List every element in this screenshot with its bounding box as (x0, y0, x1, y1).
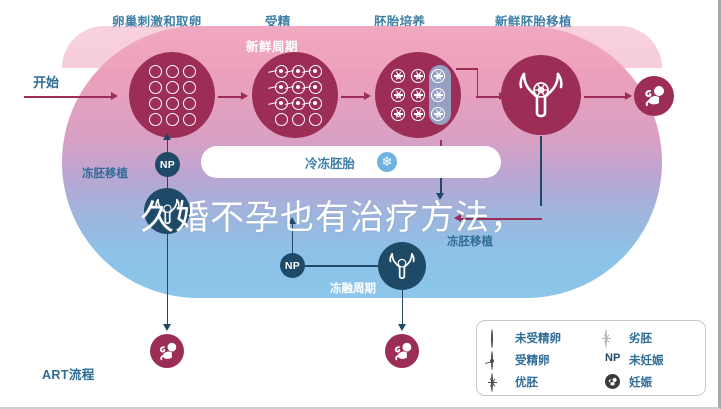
good-embryo-icon (431, 69, 445, 83)
unfertilized-ovum-icon (292, 113, 305, 126)
fertilized-ovum-icon (309, 81, 322, 94)
node-thaw-uterus[interactable] (378, 242, 426, 290)
legend-label: 未妊娠 (629, 352, 664, 368)
pregnancy-baby-icon[interactable] (634, 76, 674, 116)
legend-label: 妊娠 (629, 374, 652, 390)
fertilized-ovum-icon (491, 352, 506, 367)
np-marker-upper[interactable]: NP (155, 152, 180, 177)
connector-fertilization-to-culture (341, 96, 365, 98)
good-embryo-icon (431, 88, 445, 102)
start-arrow-head (111, 92, 118, 100)
legend-item: 劣胚 (605, 328, 705, 347)
connector-thaw-uterus-to-baby (402, 290, 404, 326)
fetus-glyph (391, 341, 414, 362)
unfertilized-ovum-icon (183, 113, 196, 126)
legend-column-right: 劣胚 NP 未妊娠 妊娠 (591, 328, 705, 395)
legend-label: 未受精卵 (515, 330, 561, 346)
connector-culture-to-transfer (476, 96, 500, 98)
art-process-label: ART流程 (42, 364, 95, 383)
unfertilized-ovum-icon (183, 81, 196, 94)
pregnancy-icon (605, 374, 620, 389)
start-label: 开始 (33, 72, 59, 91)
arrow-fertilization-to-culture (364, 92, 371, 100)
arrow-np-upper-up (163, 133, 171, 140)
pregnancy-baby-icon-middle[interactable] (385, 334, 419, 368)
legend-item: 未受精卵 (491, 328, 591, 347)
node-embryo-culture[interactable] (375, 52, 461, 138)
unfertilized-ovum-icon (183, 65, 196, 78)
start-connector-line (24, 96, 112, 98)
good-embryo-icon (411, 88, 425, 102)
legend-label: 优胚 (515, 374, 538, 390)
node-fertilization[interactable] (252, 52, 338, 138)
unfertilized-ovum-icon (166, 65, 179, 78)
node-fresh-embryo-transfer[interactable] (501, 55, 581, 135)
poor-embryo-icon (605, 330, 620, 345)
unfertilized-ovum-icon (275, 113, 288, 126)
fertilization-grid (275, 65, 322, 126)
pregnancy-baby-icon-left[interactable] (150, 334, 184, 368)
fetus-glyph (156, 341, 179, 362)
unfertilized-ovum-icon (491, 330, 506, 345)
connector-np-lower-to-uterus (305, 265, 379, 267)
connector-culture-top-h (456, 68, 478, 70)
unfertilized-ovum-icon (166, 81, 179, 94)
good-embryo-icon (391, 69, 405, 83)
unfertilized-ovum-icon (149, 97, 162, 110)
connector-transfer-down (540, 136, 542, 206)
fertilized-ovum-icon (309, 97, 322, 110)
good-embryo-icon (391, 107, 405, 121)
overlay-headline: 久婚不孕也有治疗方法， (140, 190, 525, 239)
legend-column-left: 未受精卵 受精卵 优胚 (477, 328, 591, 395)
good-embryo-icon (411, 69, 425, 83)
fetus-glyph (641, 84, 667, 108)
diagram-canvas: 卵巢刺激和取卵 受精 胚胎培养 新鲜胚胎移植 新鲜周期 开始 (0, 0, 721, 409)
uterus-icon (388, 251, 416, 281)
connector-left-uterus-to-baby (167, 234, 169, 326)
connector-np-lower-v-mid (292, 240, 294, 254)
arrow-left-uterus-to-baby (163, 324, 171, 331)
good-embryo-icon (491, 374, 506, 389)
node-oocyte-retrieval[interactable] (129, 52, 215, 138)
arrow-transfer-to-baby (625, 92, 632, 100)
legend-item: 优胚 (491, 372, 591, 391)
unfertilized-ovum-icon (183, 97, 196, 110)
legend-item: NP 未妊娠 (605, 350, 705, 369)
np-icon: NP (605, 352, 620, 367)
label-frozen-embryo-transfer-left: 冻胚移植 (82, 165, 128, 181)
unfertilized-ovum-icon (149, 113, 162, 126)
connector-transfer-to-baby (584, 96, 626, 98)
legend-label: 受精卵 (515, 352, 550, 368)
unfertilized-ovum-icon (309, 113, 322, 126)
legend-label: 劣胚 (629, 330, 652, 346)
uterus-icon (517, 69, 565, 121)
connector-oocyte-to-fertilization (218, 96, 242, 98)
np-marker-lower[interactable]: NP (280, 253, 305, 278)
frozen-embryo-bar[interactable]: 冷冻胚胎 ❄ (201, 146, 501, 178)
legend-item: 受精卵 (491, 350, 591, 369)
connector-culture-elbow-v (477, 68, 479, 96)
good-embryo-icon (431, 107, 445, 121)
fetus-glyph (607, 377, 618, 387)
oocyte-grid (149, 65, 196, 126)
unfertilized-ovum-icon (149, 81, 162, 94)
arrow-thaw-uterus-to-baby (398, 324, 406, 331)
embryo-culture-grid (391, 69, 445, 121)
fertilized-ovum-icon (309, 65, 322, 78)
arrow-oocyte-to-fertilization (241, 92, 248, 100)
good-embryo-icon (391, 88, 405, 102)
legend-box: 未受精卵 受精卵 优胚 劣胚 NP 未妊娠 (476, 320, 706, 396)
good-embryo-icon (411, 107, 425, 121)
unfertilized-ovum-icon (149, 65, 162, 78)
snowflake-icon: ❄ (377, 152, 397, 172)
connector-np-upper-v-top (167, 138, 169, 152)
unfertilized-ovum-icon (166, 113, 179, 126)
label-thaw-cycle: 冻融周期 (330, 280, 376, 296)
legend-item: 妊娠 (605, 372, 705, 391)
unfertilized-ovum-icon (166, 97, 179, 110)
frozen-embryo-label: 冷冻胚胎 (305, 153, 355, 172)
